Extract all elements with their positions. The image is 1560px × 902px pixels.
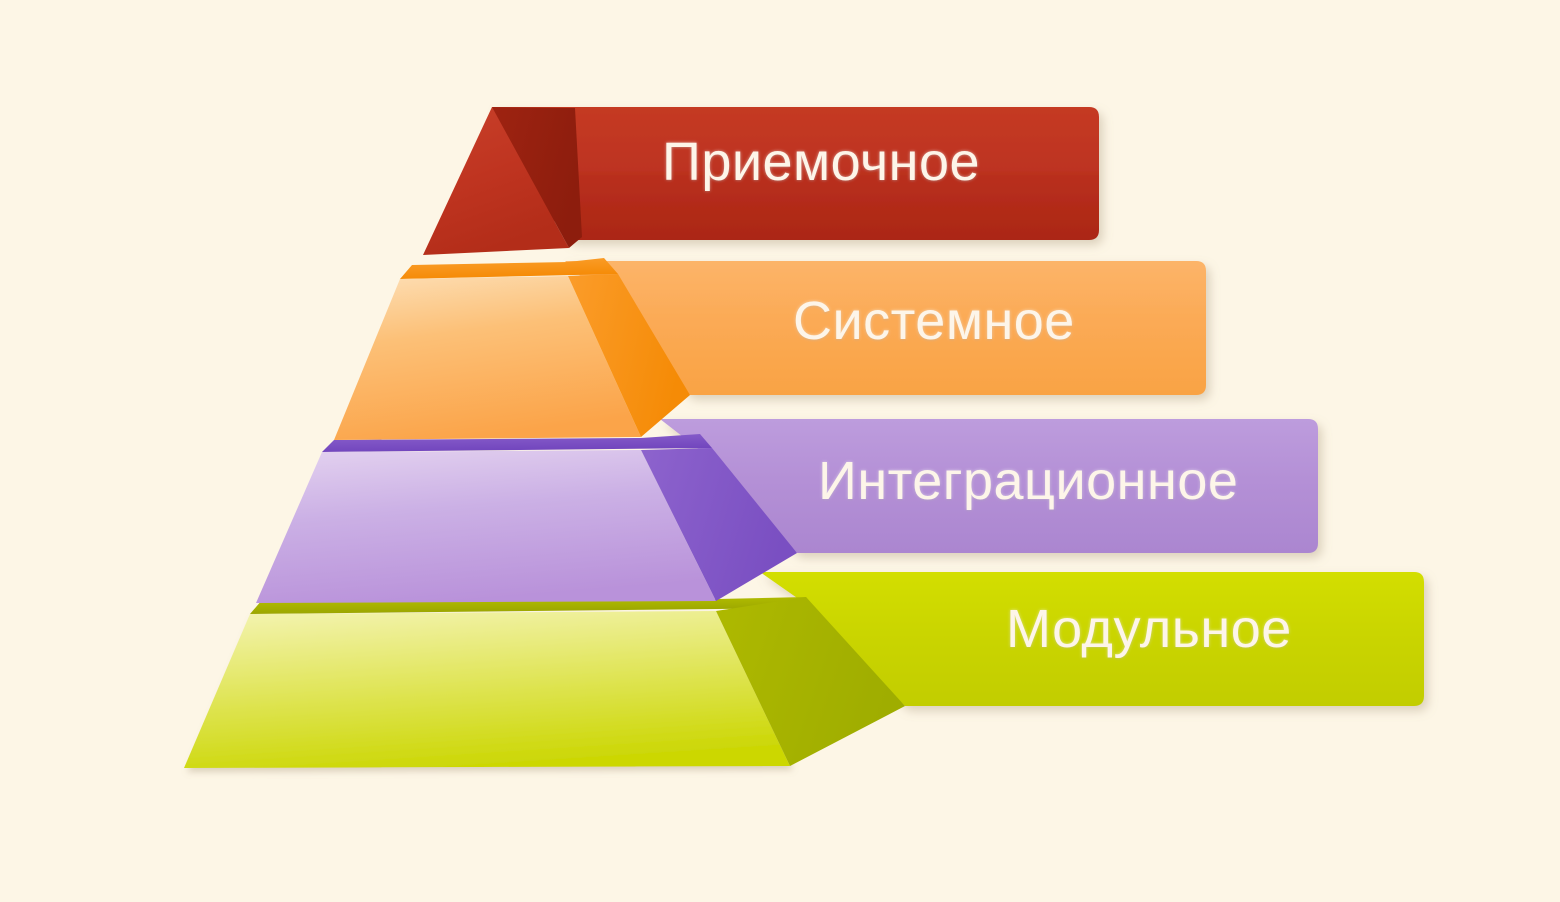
level-label-integracionnoe: Интеграционное — [818, 450, 1238, 512]
level-label-sistemnoe: Системное — [793, 290, 1075, 352]
purple-front-face — [256, 450, 716, 603]
diagram-canvas: Приемочное Системное Интеграционное Моду… — [0, 0, 1560, 902]
level-label-priemochnoe: Приемочное — [662, 131, 980, 193]
pyramid-level-sistemnoe[interactable] — [334, 258, 1206, 440]
green-front-face — [184, 611, 790, 768]
level-label-modulnoe: Модульное — [1006, 598, 1292, 660]
